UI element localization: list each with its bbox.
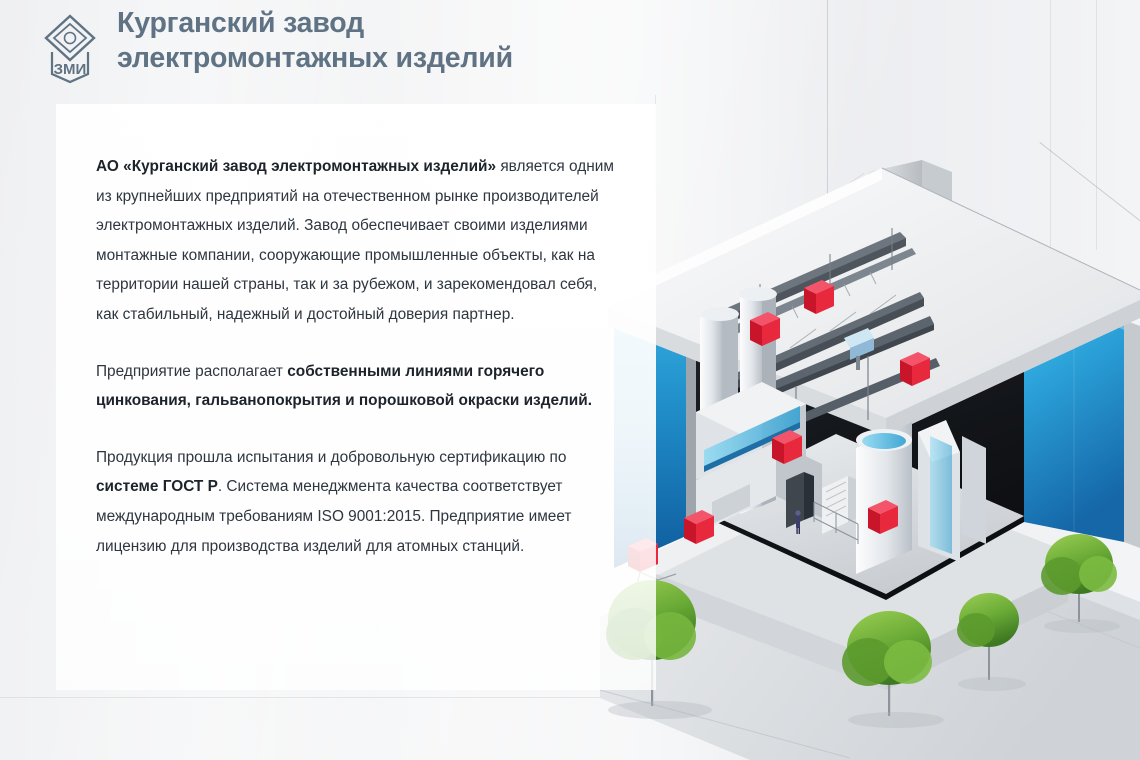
right-end-wall — [1124, 320, 1140, 548]
content-card: АО «Курганский завод электромонтажных из… — [56, 104, 656, 690]
card-body: АО «Курганский завод электромонтажных из… — [96, 152, 620, 561]
page-background: АО «Курганский завод электромонтажных из… — [0, 0, 1140, 760]
text-run: Продукция прошла испытания и добровольну… — [96, 449, 566, 466]
isometric-factory-illustration — [600, 150, 1140, 760]
text-run-bold: АО «Курганский завод электромонтажных из… — [96, 158, 496, 175]
paragraph-production-lines: Предприятие располагает собственными лин… — [96, 357, 620, 416]
page-title: Курганский завод электромонтажных издели… — [117, 6, 513, 76]
tree-shadow — [848, 712, 944, 728]
tree-shadow — [608, 701, 712, 719]
text-run: Предприятие располагает — [96, 363, 287, 380]
paragraph-company-intro: АО «Курганский завод электромонтажных из… — [96, 152, 620, 330]
tree-shadow — [958, 677, 1026, 691]
zmi-diamond-logo-icon[interactable]: ЗМИ — [38, 12, 102, 84]
logo-text: ЗМИ — [54, 61, 87, 78]
paragraph-certification: Продукция прошла испытания и добровольну… — [96, 443, 620, 561]
text-run: является одним из крупнейших предприятий… — [96, 158, 614, 323]
tree-shadow — [1044, 619, 1120, 633]
page-header: ЗМИ Курганский завод электромонтажных из… — [0, 0, 1140, 95]
text-run-bold: системе ГОСТ Р — [96, 478, 218, 495]
